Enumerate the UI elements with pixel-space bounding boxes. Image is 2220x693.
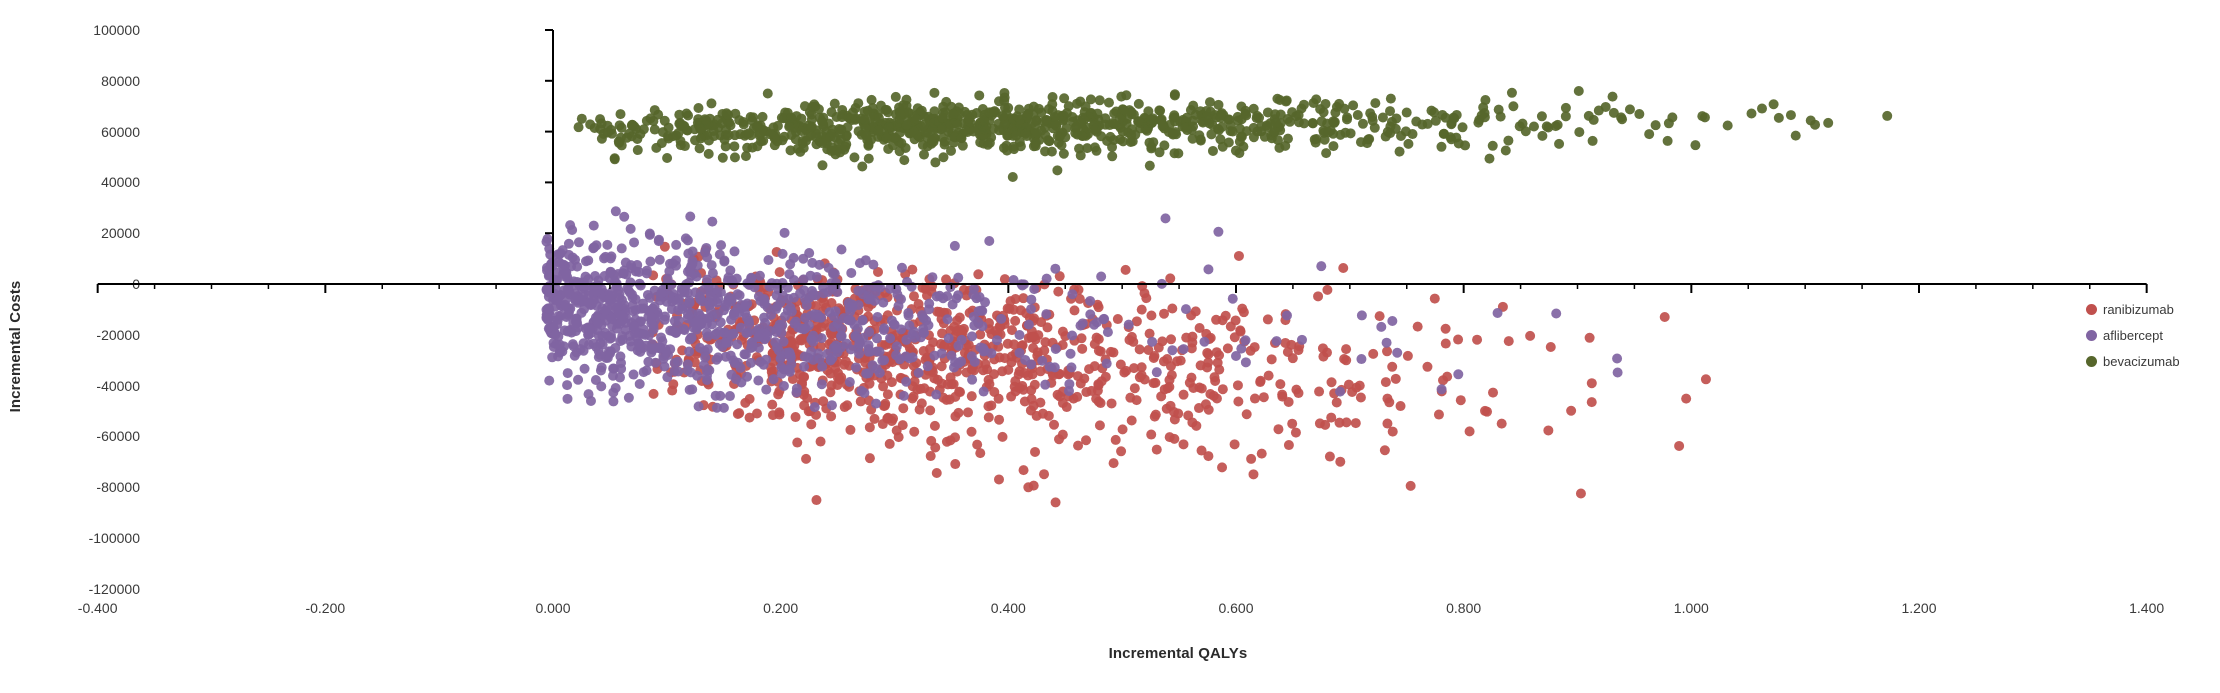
data-point — [1147, 337, 1157, 347]
data-point — [732, 339, 742, 349]
data-point — [1214, 365, 1224, 375]
data-point — [1284, 440, 1294, 450]
data-point — [1093, 109, 1103, 119]
data-point — [929, 88, 939, 98]
data-point — [1451, 133, 1461, 143]
data-point — [1187, 417, 1197, 427]
data-point — [990, 106, 1000, 116]
data-point — [1314, 387, 1324, 397]
data-point — [1156, 391, 1166, 401]
data-point — [1310, 135, 1320, 145]
data-point — [1382, 419, 1392, 429]
data-point — [1634, 109, 1644, 119]
data-point — [606, 346, 616, 356]
data-point — [1413, 322, 1423, 332]
data-point — [1034, 104, 1044, 114]
data-point — [1111, 107, 1121, 117]
data-point — [1529, 122, 1539, 132]
data-point — [1417, 120, 1427, 130]
data-point — [1106, 347, 1116, 357]
data-point — [955, 387, 965, 397]
data-point — [629, 237, 639, 247]
data-point — [654, 236, 664, 246]
data-point — [717, 118, 727, 128]
data-point — [1382, 338, 1392, 348]
data-point — [1542, 121, 1552, 131]
data-point — [843, 122, 853, 132]
data-point — [898, 403, 908, 413]
legend-label: aflibercept — [2103, 328, 2163, 343]
data-point — [1217, 122, 1227, 132]
data-point — [1216, 113, 1226, 123]
data-point — [1356, 392, 1366, 402]
data-point — [1697, 111, 1707, 121]
data-point — [1185, 378, 1195, 388]
data-point — [912, 114, 922, 124]
data-point — [1019, 368, 1029, 378]
data-point — [1294, 388, 1304, 398]
data-point — [1137, 281, 1147, 291]
data-point — [928, 125, 938, 135]
data-point — [871, 399, 881, 409]
data-point — [591, 240, 601, 250]
data-point — [683, 235, 693, 245]
data-point — [967, 331, 977, 341]
data-point — [570, 294, 580, 304]
data-point — [1067, 330, 1077, 340]
data-point — [1769, 99, 1779, 109]
data-point — [1382, 346, 1392, 356]
data-point — [1095, 420, 1105, 430]
data-point — [1223, 343, 1233, 353]
data-point — [683, 359, 693, 369]
data-point — [992, 335, 1002, 345]
data-point — [741, 300, 751, 310]
data-point — [607, 314, 617, 324]
data-point — [978, 343, 988, 353]
data-point — [859, 388, 869, 398]
data-point — [765, 129, 775, 139]
data-point — [1160, 213, 1170, 223]
data-point — [865, 453, 875, 463]
data-point — [840, 142, 850, 152]
data-point — [938, 113, 948, 123]
data-point — [1107, 151, 1117, 161]
data-point — [713, 352, 723, 362]
data-point — [860, 115, 870, 125]
data-point — [561, 267, 571, 277]
data-point — [1182, 113, 1192, 123]
data-point — [616, 310, 626, 320]
data-point — [1040, 380, 1050, 390]
data-point — [854, 349, 864, 359]
data-point — [1288, 353, 1298, 363]
data-point — [1199, 337, 1209, 347]
data-point — [930, 421, 940, 431]
data-point — [1023, 482, 1033, 492]
data-point — [647, 345, 657, 355]
data-point — [1137, 305, 1147, 315]
data-point — [581, 256, 591, 266]
data-point — [1069, 305, 1079, 315]
data-point — [608, 371, 618, 381]
data-point — [685, 385, 695, 395]
data-point — [1438, 375, 1448, 385]
data-point — [616, 109, 626, 119]
data-point — [899, 155, 909, 165]
data-point — [1039, 469, 1049, 479]
data-point — [1316, 261, 1326, 271]
data-point — [1045, 362, 1055, 372]
data-point — [726, 330, 736, 340]
data-point — [931, 390, 941, 400]
data-point — [635, 379, 645, 389]
data-point — [849, 152, 859, 162]
data-point — [591, 313, 601, 323]
data-point — [940, 140, 950, 150]
data-point — [1280, 338, 1290, 348]
legend-item-bevacizumab[interactable]: bevacizumab — [2086, 348, 2216, 374]
data-point — [777, 113, 787, 123]
data-point — [608, 396, 618, 406]
data-point — [1167, 345, 1177, 355]
data-point — [1585, 333, 1595, 343]
data-point — [1212, 394, 1222, 404]
data-point — [716, 317, 726, 327]
data-point — [917, 398, 927, 408]
data-point — [702, 328, 712, 338]
data-point — [565, 220, 575, 230]
data-point — [562, 380, 572, 390]
data-point — [885, 333, 895, 343]
data-point — [1574, 86, 1584, 96]
data-point — [830, 269, 840, 279]
data-point — [630, 328, 640, 338]
data-point — [870, 281, 880, 291]
data-point — [1011, 131, 1021, 141]
data-point — [856, 396, 866, 406]
data-point — [1127, 415, 1137, 425]
data-point — [1308, 118, 1318, 128]
data-point — [817, 160, 827, 170]
data-point — [975, 448, 985, 458]
data-point — [1368, 116, 1378, 126]
data-point — [1146, 310, 1156, 320]
legend-swatch-icon — [2086, 356, 2097, 367]
data-point — [1047, 147, 1057, 157]
data-point — [1084, 364, 1094, 374]
data-point — [1179, 439, 1189, 449]
data-point — [868, 260, 878, 270]
data-point — [805, 107, 815, 117]
data-point — [662, 153, 672, 163]
data-point — [1663, 136, 1673, 146]
data-point — [950, 241, 960, 251]
data-point — [937, 348, 947, 358]
data-point — [1104, 98, 1114, 108]
data-point — [690, 135, 700, 145]
data-point — [759, 360, 769, 370]
data-point — [563, 394, 573, 404]
data-point — [1236, 327, 1246, 337]
data-point — [1246, 454, 1256, 464]
data-point — [1010, 316, 1020, 326]
data-point — [1553, 120, 1563, 130]
data-point — [1239, 307, 1249, 317]
data-point — [1103, 327, 1113, 337]
data-point — [845, 315, 855, 325]
data-point — [1403, 351, 1413, 361]
data-point — [755, 271, 765, 281]
data-point — [645, 257, 655, 267]
data-point — [1054, 434, 1064, 444]
data-point — [1882, 111, 1892, 121]
data-point — [950, 411, 960, 421]
data-point — [1021, 129, 1031, 139]
data-point — [864, 154, 874, 164]
data-point — [1053, 287, 1063, 297]
data-point — [610, 153, 620, 163]
data-point — [606, 330, 616, 340]
data-point — [775, 267, 785, 277]
data-point — [1146, 430, 1156, 440]
data-point — [1077, 344, 1087, 354]
data-point — [1434, 410, 1444, 420]
data-point — [754, 343, 764, 353]
data-point — [718, 153, 728, 163]
data-point — [671, 328, 681, 338]
data-point — [1439, 129, 1449, 139]
data-point — [787, 307, 797, 317]
data-point — [1032, 411, 1042, 421]
data-point — [1681, 394, 1691, 404]
data-point — [671, 240, 681, 250]
data-point — [870, 414, 880, 424]
data-point — [996, 314, 1006, 324]
data-point — [1211, 315, 1221, 325]
data-point — [868, 103, 878, 113]
data-point — [617, 243, 627, 253]
data-point — [1218, 142, 1228, 152]
data-point — [763, 255, 773, 265]
data-point — [1242, 409, 1252, 419]
data-point — [882, 134, 892, 144]
data-point — [1076, 378, 1086, 388]
data-point — [1625, 104, 1635, 114]
data-point — [1077, 131, 1087, 141]
data-point — [1241, 357, 1251, 367]
data-point — [662, 372, 672, 382]
data-point — [941, 97, 951, 107]
data-point — [792, 383, 802, 393]
data-point — [1044, 411, 1054, 421]
data-point — [1355, 381, 1365, 391]
data-point — [1357, 310, 1367, 320]
data-point — [795, 288, 805, 298]
data-point — [1224, 114, 1234, 124]
data-point — [602, 240, 612, 250]
data-point — [806, 419, 816, 429]
data-point — [1273, 135, 1283, 145]
data-point — [1137, 362, 1147, 372]
data-point — [808, 331, 818, 341]
data-point — [753, 376, 763, 386]
data-point — [627, 290, 637, 300]
data-point — [649, 389, 659, 399]
data-point — [758, 112, 768, 122]
data-point — [919, 328, 929, 338]
data-point — [786, 145, 796, 155]
data-point — [927, 281, 937, 291]
data-point — [685, 211, 695, 221]
data-point — [984, 412, 994, 422]
data-point — [1480, 406, 1490, 416]
data-point — [883, 107, 893, 117]
data-point — [989, 387, 999, 397]
data-point — [1041, 309, 1051, 319]
data-point — [673, 367, 683, 377]
data-point — [891, 284, 901, 294]
x-tick-label: 0.600 — [1176, 600, 1296, 616]
data-point — [1587, 378, 1597, 388]
data-point — [614, 136, 624, 146]
data-point — [1651, 120, 1661, 130]
data-point — [1387, 362, 1397, 372]
data-point — [837, 331, 847, 341]
data-point — [1613, 368, 1623, 378]
data-point — [760, 318, 770, 328]
data-point — [1518, 119, 1528, 129]
data-point — [777, 320, 787, 330]
data-point — [864, 327, 874, 337]
data-point — [827, 400, 837, 410]
data-point — [648, 116, 658, 126]
data-point — [1644, 129, 1654, 139]
data-point — [1441, 339, 1451, 349]
data-point — [1566, 406, 1576, 416]
data-point — [739, 349, 749, 359]
data-point — [1284, 397, 1294, 407]
data-point — [898, 420, 908, 430]
data-point — [1332, 102, 1342, 112]
data-point — [761, 385, 771, 395]
data-point — [692, 371, 702, 381]
data-point — [1472, 335, 1482, 345]
data-point — [1347, 387, 1357, 397]
data-point — [1095, 95, 1105, 105]
data-point — [796, 334, 806, 344]
data-point — [1757, 104, 1767, 114]
data-point — [754, 291, 764, 301]
data-point — [571, 317, 581, 327]
data-point — [1027, 332, 1037, 342]
data-point — [701, 115, 711, 125]
data-point — [543, 234, 553, 244]
data-point — [552, 296, 562, 306]
data-point — [1478, 102, 1488, 112]
data-point — [908, 352, 918, 362]
x-tick-label: -0.400 — [38, 600, 158, 616]
data-point — [606, 267, 616, 277]
data-point — [1267, 354, 1277, 364]
data-point — [948, 299, 958, 309]
data-point — [833, 373, 843, 383]
data-point — [926, 451, 936, 461]
data-point — [1006, 392, 1016, 402]
data-point — [950, 459, 960, 469]
data-point — [1097, 376, 1107, 386]
data-point — [1085, 296, 1095, 306]
data-point — [1233, 397, 1243, 407]
data-point — [1385, 106, 1395, 116]
data-point — [1238, 142, 1248, 152]
x-tick-label: 1.400 — [2087, 600, 2207, 616]
data-point — [1049, 420, 1059, 430]
data-point — [823, 349, 833, 359]
data-point — [706, 98, 716, 108]
data-point — [1118, 136, 1128, 146]
data-point — [711, 391, 721, 401]
data-point — [1099, 314, 1109, 324]
data-point — [770, 337, 780, 347]
data-point — [1256, 376, 1266, 386]
data-point — [899, 391, 909, 401]
data-point — [585, 119, 595, 129]
data-point — [1031, 138, 1041, 148]
data-point — [1102, 359, 1112, 369]
data-point — [1282, 310, 1292, 320]
data-point — [650, 358, 660, 368]
data-point — [1332, 397, 1342, 407]
data-point — [1230, 439, 1240, 449]
data-point — [1235, 124, 1245, 134]
data-point — [817, 138, 827, 148]
data-point — [1150, 378, 1160, 388]
data-point — [994, 415, 1004, 425]
data-point — [1135, 372, 1145, 382]
data-point — [1026, 295, 1036, 305]
data-point — [1385, 121, 1395, 131]
data-point — [1164, 382, 1174, 392]
data-point — [1118, 424, 1128, 434]
data-point — [1006, 357, 1016, 367]
data-point — [1250, 394, 1260, 404]
data-point — [1690, 140, 1700, 150]
data-point — [671, 261, 681, 271]
data-point — [956, 357, 966, 367]
data-point — [924, 299, 934, 309]
data-point — [1460, 140, 1470, 150]
data-point — [674, 110, 684, 120]
legend-item-ranibizumab[interactable]: ranibizumab — [2086, 296, 2216, 322]
data-point — [733, 409, 743, 419]
data-point — [1315, 418, 1325, 428]
data-point — [1044, 104, 1054, 114]
data-point — [744, 319, 754, 329]
legend-item-aflibercept[interactable]: aflibercept — [2086, 322, 2216, 348]
data-point — [1589, 115, 1599, 125]
data-point — [1786, 110, 1796, 120]
data-point — [688, 246, 698, 256]
data-point — [853, 324, 863, 334]
data-point — [935, 307, 945, 317]
data-point — [1125, 393, 1135, 403]
data-point — [953, 273, 963, 283]
data-point — [594, 346, 604, 356]
data-point — [814, 260, 824, 270]
data-point — [1674, 441, 1684, 451]
data-point — [1024, 104, 1034, 114]
